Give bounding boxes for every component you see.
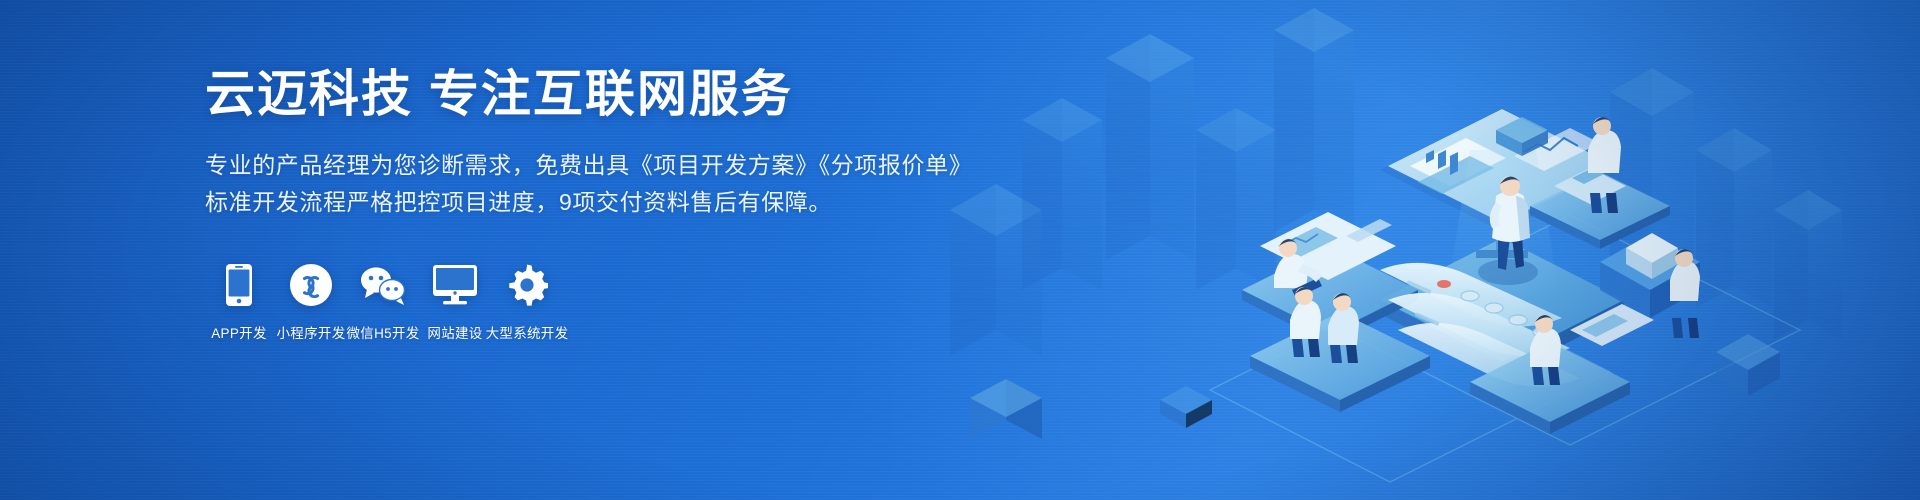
gear-icon bbox=[506, 262, 548, 308]
service-label: 微信H5开发 bbox=[346, 322, 419, 342]
subtitle-line-2: 标准开发流程严格把控项目进度，9项交付资料售后有保障。 bbox=[205, 184, 1105, 221]
service-item-website[interactable]: 网站建设 bbox=[419, 262, 491, 342]
hero-subtitle: 专业的产品经理为您诊断需求，免费出具《项目开发方案》《分项报价单》 标准开发流程… bbox=[205, 147, 1105, 222]
service-item-app[interactable]: APP开发 bbox=[203, 262, 275, 342]
subtitle-line-1: 专业的产品经理为您诊断需求，免费出具《项目开发方案》《分项报价单》 bbox=[205, 147, 1105, 184]
page-title: 云迈科技 专注互联网服务 bbox=[205, 64, 1105, 125]
monitor-icon bbox=[433, 262, 477, 308]
hero-banner: 云迈科技 专注互联网服务 专业的产品经理为您诊断需求，免费出具《项目开发方案》《… bbox=[0, 0, 1920, 500]
service-label: APP开发 bbox=[211, 322, 267, 342]
service-label: 小程序开发 bbox=[277, 322, 346, 342]
wechat-icon bbox=[359, 262, 407, 308]
service-item-large-system[interactable]: 大型系统开发 bbox=[491, 262, 563, 342]
service-label: 网站建设 bbox=[427, 322, 482, 342]
service-label: 大型系统开发 bbox=[486, 322, 569, 342]
hero-copy-block: 云迈科技 专注互联网服务 专业的产品经理为您诊断需求，免费出具《项目开发方案》《… bbox=[205, 64, 1105, 222]
mini-program-icon bbox=[290, 262, 332, 308]
service-icon-row: APP开发 小程序开发 bbox=[203, 262, 563, 342]
service-item-wechat-h5[interactable]: 微信H5开发 bbox=[347, 262, 419, 342]
service-item-miniprogram[interactable]: 小程序开发 bbox=[275, 262, 347, 342]
mobile-phone-icon bbox=[226, 262, 252, 308]
